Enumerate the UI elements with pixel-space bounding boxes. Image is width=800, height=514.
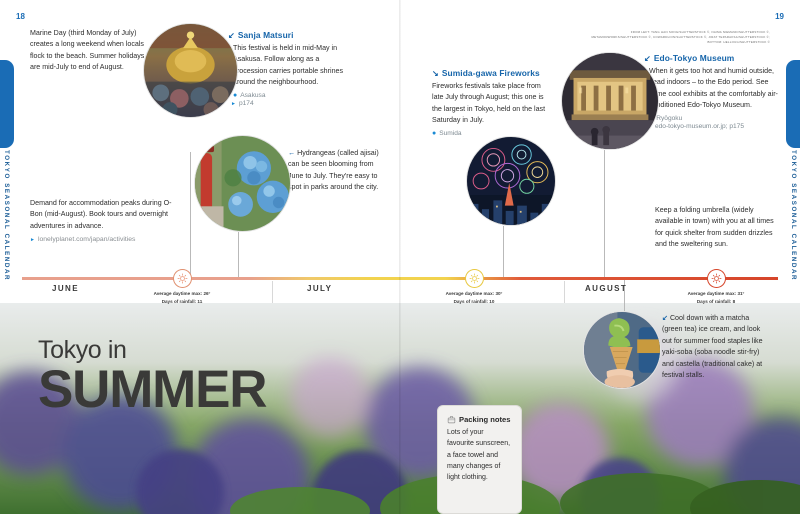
- timeline-divider-1: [272, 281, 273, 303]
- july-rain: Days of rainfall: 10: [404, 298, 544, 306]
- photo-edo-tokyo-museum: [561, 52, 659, 150]
- feature-edo-location: ● Ryōgoku: [649, 115, 778, 122]
- timeline-divider-2: [564, 281, 565, 303]
- weather-stats-july: Average daytime max: 30° Days of rainfal…: [404, 290, 544, 306]
- note-obon: Demand for accommodation peaks during O-…: [30, 198, 178, 243]
- thumb-tab-right[interactable]: [786, 60, 800, 148]
- photo-credit: FROM LEFT: TANG HAN SONG/SHUTTERSTOCK ©,…: [584, 30, 770, 45]
- thumb-tab-left[interactable]: [0, 60, 14, 148]
- obon-url-text: lonelyplanet.com/japan/activities: [38, 236, 135, 243]
- weather-stats-august: Average daytime max: 31° Days of rainfal…: [646, 290, 786, 306]
- feature-edo-ref[interactable]: ► edo-tokyo-museum.or.jp; p175: [647, 123, 778, 130]
- july-temp: Average daytime max: 30°: [404, 290, 544, 298]
- page-number-right: 19: [775, 12, 784, 21]
- feature-hydrangeas-body: ← Hydrangeas (called ajisai) can be seen…: [288, 148, 380, 194]
- timeline-month-august: AUGUST: [585, 284, 627, 293]
- magazine-spread: TOKYO SEASONAL CALENDAR TOKYO SEASONAL C…: [0, 0, 800, 514]
- sun-icon: [177, 273, 188, 284]
- timeline-month-july: JULY: [307, 284, 332, 293]
- feature-sanja-location-text: Asakusa: [240, 92, 265, 99]
- weather-marker-july: [466, 270, 483, 287]
- june-rain: Days of rainfall: 11: [112, 298, 252, 306]
- august-rain: Days of rainfall: 8: [646, 298, 786, 306]
- feature-edo-tokyo-museum: ↙ Edo-Tokyo Museum When it gets too hot …: [644, 53, 778, 130]
- connector-line-sanja: [190, 152, 191, 278]
- note-marine-day: Marine Day (third Monday of July) create…: [30, 28, 150, 74]
- note-marine-day-text: Marine Day (third Monday of July) create…: [30, 28, 150, 74]
- photo-fireworks: [466, 136, 556, 226]
- packing-notes-title: Packing notes: [459, 415, 510, 424]
- photo-sanja-matsuri: [143, 23, 238, 118]
- feature-edo-heading: ↙ Edo-Tokyo Museum: [644, 53, 778, 63]
- feature-sanja-body: This festival is held in mid-May in Asak…: [233, 43, 344, 89]
- arrow-down-left-icon: ↙: [662, 314, 668, 322]
- feature-matcha-body: ↙ Cool down with a matcha (green tea) ic…: [662, 313, 766, 382]
- packing-notes-header: Packing notes: [447, 415, 512, 424]
- weather-marker-june: [174, 270, 191, 287]
- feature-sanja-ref-text: p174: [239, 100, 254, 107]
- feature-matcha: ↙ Cool down with a matcha (green tea) ic…: [662, 313, 766, 382]
- hero-title-line2: SUMMER: [38, 364, 266, 416]
- packing-notes-body: Lots of your favourite sunscreen, a face…: [447, 427, 512, 484]
- note-obon-text: Demand for accommodation peaks during O-…: [30, 198, 178, 232]
- feature-hydrangeas-text: Hydrangeas (called ajisai) can be seen b…: [288, 149, 379, 191]
- feature-sanja-heading: ↙ Sanja Matsuri: [228, 30, 344, 40]
- sidebar-label-right: TOKYO SEASONAL CALENDAR: [790, 150, 797, 281]
- june-temp: Average daytime max: 26°: [112, 290, 252, 298]
- note-umbrella-text: Keep a folding umbrella (widely availabl…: [655, 205, 777, 251]
- feature-sanja-ref[interactable]: ► p174: [231, 100, 344, 107]
- sidebar-label-left: TOKYO SEASONAL CALENDAR: [3, 150, 10, 281]
- feature-sanja-title: Sanja Matsuri: [238, 30, 294, 40]
- feature-edo-ref-text: edo-tokyo-museum.or.jp; p175: [655, 123, 744, 130]
- feature-fireworks-body: Fireworks festivals take place from late…: [432, 81, 552, 127]
- photo-matcha-ice-cream: [583, 311, 661, 389]
- note-umbrella: Keep a folding umbrella (widely availabl…: [655, 205, 777, 251]
- obon-url-row[interactable]: ► lonelyplanet.com/japan/activities: [30, 236, 178, 243]
- feature-sanja-location: ● Asakusa: [233, 92, 344, 99]
- timeline-month-june: JUNE: [52, 284, 79, 293]
- feature-matcha-text: Cool down with a matcha (green tea) ice …: [662, 314, 763, 379]
- sun-icon: [711, 273, 722, 284]
- page-gutter: [399, 0, 401, 514]
- feature-sanja-matsuri: ↙ Sanja Matsuri This festival is held in…: [228, 30, 344, 107]
- packing-notes-card: Packing notes Lots of your favourite sun…: [437, 405, 522, 514]
- triangle-bullet-icon: ►: [30, 237, 35, 243]
- page-number-left: 18: [16, 12, 25, 21]
- feature-edo-body: When it gets too hot and humid outside, …: [649, 66, 778, 112]
- feature-fireworks-location-text: Sumida: [439, 130, 461, 137]
- august-temp: Average daytime max: 31°: [646, 290, 786, 298]
- photo-hydrangeas: [194, 135, 291, 232]
- arrow-down-right-icon: ↘: [432, 69, 439, 78]
- feature-edo-location-text: Ryōgoku: [656, 115, 682, 122]
- connector-line-hydrangeas: [238, 232, 239, 278]
- weather-marker-august: [708, 270, 725, 287]
- connector-line-edo: [604, 150, 605, 278]
- connector-line-fireworks: [503, 226, 504, 278]
- hero-title: Tokyo in SUMMER: [38, 338, 266, 416]
- weather-stats-june: Average daytime max: 26° Days of rainfal…: [112, 290, 252, 306]
- feature-fireworks-title: Sumida-gawa Fireworks: [442, 68, 540, 78]
- map-pin-icon: ●: [432, 130, 436, 137]
- feature-fireworks-heading: ↘ Sumida-gawa Fireworks: [432, 68, 552, 78]
- suitcase-icon: [447, 415, 456, 424]
- feature-fireworks-location: ● Sumida: [432, 130, 552, 137]
- feature-sumida-fireworks: ↘ Sumida-gawa Fireworks Fireworks festiv…: [432, 68, 552, 137]
- feature-edo-title: Edo-Tokyo Museum: [654, 53, 735, 63]
- feature-hydrangeas: ← Hydrangeas (called ajisai) can be seen…: [288, 148, 380, 194]
- sun-icon: [469, 273, 480, 284]
